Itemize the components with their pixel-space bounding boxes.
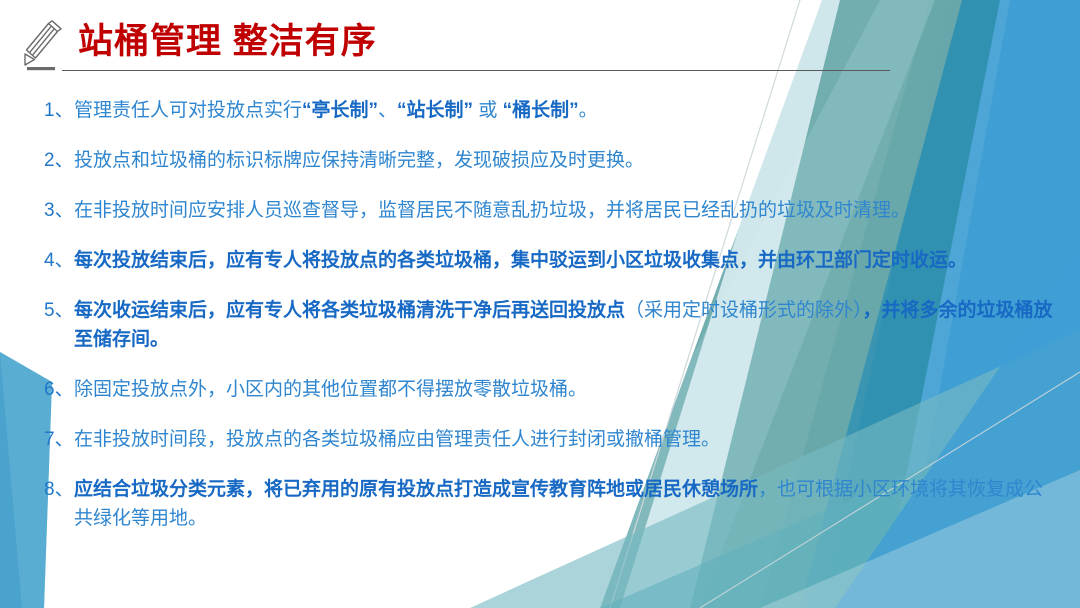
- emphasis-text: 应结合垃圾分类元素，将已弃用的原有投放点打造成宣传教育阵地或居民休憩场所: [74, 479, 758, 500]
- body-text: 或: [473, 100, 503, 121]
- body-text: 投放点和垃圾桶的标识标牌应保持清晰完整，发现破损应及时更换。: [74, 150, 644, 171]
- list-item: 2、投放点和垃圾桶的标识标牌应保持清晰完整，发现破损应及时更换。: [44, 146, 1054, 175]
- list-item: 4、每次投放结束后，应有专人将投放点的各类垃圾桶，集中驳运到小区垃圾收集点，并由…: [44, 246, 1054, 275]
- list-item-number: 8、: [44, 475, 74, 504]
- title-underline-rule: [62, 70, 890, 71]
- list-item-number: 2、: [44, 146, 74, 175]
- slide-header: 站桶管理 整洁有序: [0, 0, 1080, 80]
- list-item-number: 1、: [44, 96, 74, 125]
- list-item: 6、除固定投放点外，小区内的其他位置都不得摆放零散垃圾桶。: [44, 375, 1054, 404]
- list-item-text: 除固定投放点外，小区内的其他位置都不得摆放零散垃圾桶。: [74, 375, 1054, 404]
- list-item-text: 在非投放时间段，投放点的各类垃圾桶应由管理责任人进行封闭或撤桶管理。: [74, 425, 1054, 454]
- list-item-number: 4、: [44, 246, 74, 275]
- page-title: 站桶管理 整洁有序: [78, 20, 377, 64]
- emphasis-text: “亭长制”: [302, 100, 378, 121]
- list-item-number: 5、: [44, 296, 74, 325]
- list-item: 5、每次收运结束后，应有专人将各类垃圾桶清洗干净后再送回投放点（采用定时设桶形式…: [44, 296, 1054, 354]
- list-item-text: 应结合垃圾分类元素，将已弃用的原有投放点打造成宣传教育阵地或居民休憩场所，也可根…: [74, 475, 1054, 533]
- list-item-text: 投放点和垃圾桶的标识标牌应保持清晰完整，发现破损应及时更换。: [74, 146, 1054, 175]
- list-item-text: 在非投放时间应安排人员巡查督导，监督居民不随意乱扔垃圾，并将居民已经乱扔的垃圾及…: [74, 196, 1054, 225]
- slide-canvas: 站桶管理 整洁有序 1、管理责任人可对投放点实行“亭长制”、“站长制” 或 “桶…: [0, 0, 1080, 608]
- emphasis-text: 每次投放结束后，应有专人将投放点的各类垃圾桶，集中驳运到小区垃圾收集点，并由环卫…: [74, 250, 967, 271]
- body-text: 除固定投放点外，小区内的其他位置都不得摆放零散垃圾桶。: [74, 379, 587, 400]
- pencil-baseline: [27, 67, 55, 70]
- body-text: 在非投放时间段，投放点的各类垃圾桶应由管理责任人进行封闭或撤桶管理。: [74, 429, 720, 450]
- list-item-number: 6、: [44, 375, 74, 404]
- list-item-number: 3、: [44, 196, 74, 225]
- body-text: 。: [579, 100, 598, 121]
- emphasis-text: 每次收运结束后，应有专人将各类垃圾桶清洗干净后再送回投放点: [74, 300, 625, 321]
- emphasis-text: “站长制”: [397, 100, 473, 121]
- pencil-icon: [18, 20, 64, 76]
- points-list: 1、管理责任人可对投放点实行“亭长制”、“站长制” 或 “桶长制”。2、投放点和…: [44, 96, 1054, 554]
- list-item: 8、应结合垃圾分类元素，将已弃用的原有投放点打造成宣传教育阵地或居民休憩场所，也…: [44, 475, 1054, 533]
- body-text: 管理责任人可对投放点实行: [74, 100, 302, 121]
- list-item-text: 每次投放结束后，应有专人将投放点的各类垃圾桶，集中驳运到小区垃圾收集点，并由环卫…: [74, 246, 1054, 275]
- body-text: （采用定时设桶形式的除外）: [625, 300, 863, 321]
- list-item-text: 管理责任人可对投放点实行“亭长制”、“站长制” 或 “桶长制”。: [74, 96, 1054, 125]
- list-item: 1、管理责任人可对投放点实行“亭长制”、“站长制” 或 “桶长制”。: [44, 96, 1054, 125]
- body-text: 、: [378, 100, 397, 121]
- list-item: 3、在非投放时间应安排人员巡查督导，监督居民不随意乱扔垃圾，并将居民已经乱扔的垃…: [44, 196, 1054, 225]
- list-item-text: 每次收运结束后，应有专人将各类垃圾桶清洗干净后再送回投放点（采用定时设桶形式的除…: [74, 296, 1054, 354]
- body-text: 在非投放时间应安排人员巡查督导，监督居民不随意乱扔垃圾，并将居民已经乱扔的垃圾及…: [74, 200, 910, 221]
- list-item: 7、在非投放时间段，投放点的各类垃圾桶应由管理责任人进行封闭或撤桶管理。: [44, 425, 1054, 454]
- list-item-number: 7、: [44, 425, 74, 454]
- emphasis-text: “桶长制”: [503, 100, 579, 121]
